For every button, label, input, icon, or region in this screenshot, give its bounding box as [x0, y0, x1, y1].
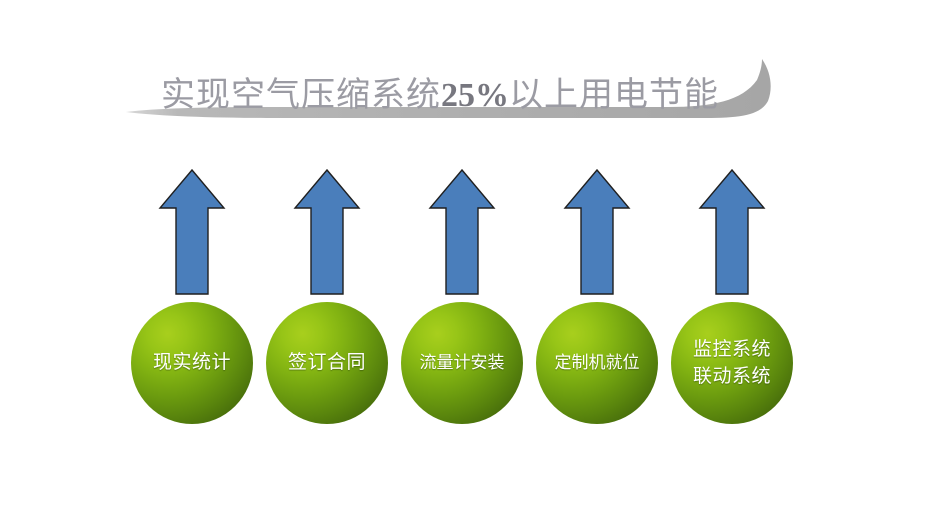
process-node-label-1: 现实统计 — [121, 302, 263, 424]
arrow-up-icon-5 — [698, 168, 766, 296]
arrow-up-icon-4 — [563, 168, 631, 296]
process-node-label-3: 流量计安装 — [391, 302, 533, 424]
slide-canvas: 实现空气压缩系统25%以上用电节能 现实统计 签订合同 — [0, 0, 945, 529]
process-node-label-5: 监控系统 联动系统 — [661, 302, 803, 424]
page-title: 实现空气压缩系统25%以上用电节能 — [150, 74, 730, 118]
process-node-2[interactable]: 签订合同 — [266, 302, 388, 424]
title-banner: 实现空气压缩系统25%以上用电节能 — [0, 28, 800, 138]
title-part-before: 实现空气压缩系统 — [161, 77, 441, 114]
arrow-up-icon-1 — [158, 168, 226, 296]
title-highlight-percent: 25% — [441, 77, 509, 114]
process-node-4[interactable]: 定制机就位 — [536, 302, 658, 424]
process-node-1[interactable]: 现实统计 — [131, 302, 253, 424]
title-part-after: 以上用电节能 — [509, 77, 719, 114]
arrow-up-icon-2 — [293, 168, 361, 296]
process-node-3[interactable]: 流量计安装 — [401, 302, 523, 424]
process-node-label-2: 签订合同 — [256, 302, 398, 424]
process-node-5[interactable]: 监控系统 联动系统 — [671, 302, 793, 424]
arrow-up-icon-3 — [428, 168, 496, 296]
process-node-label-4: 定制机就位 — [526, 302, 668, 424]
